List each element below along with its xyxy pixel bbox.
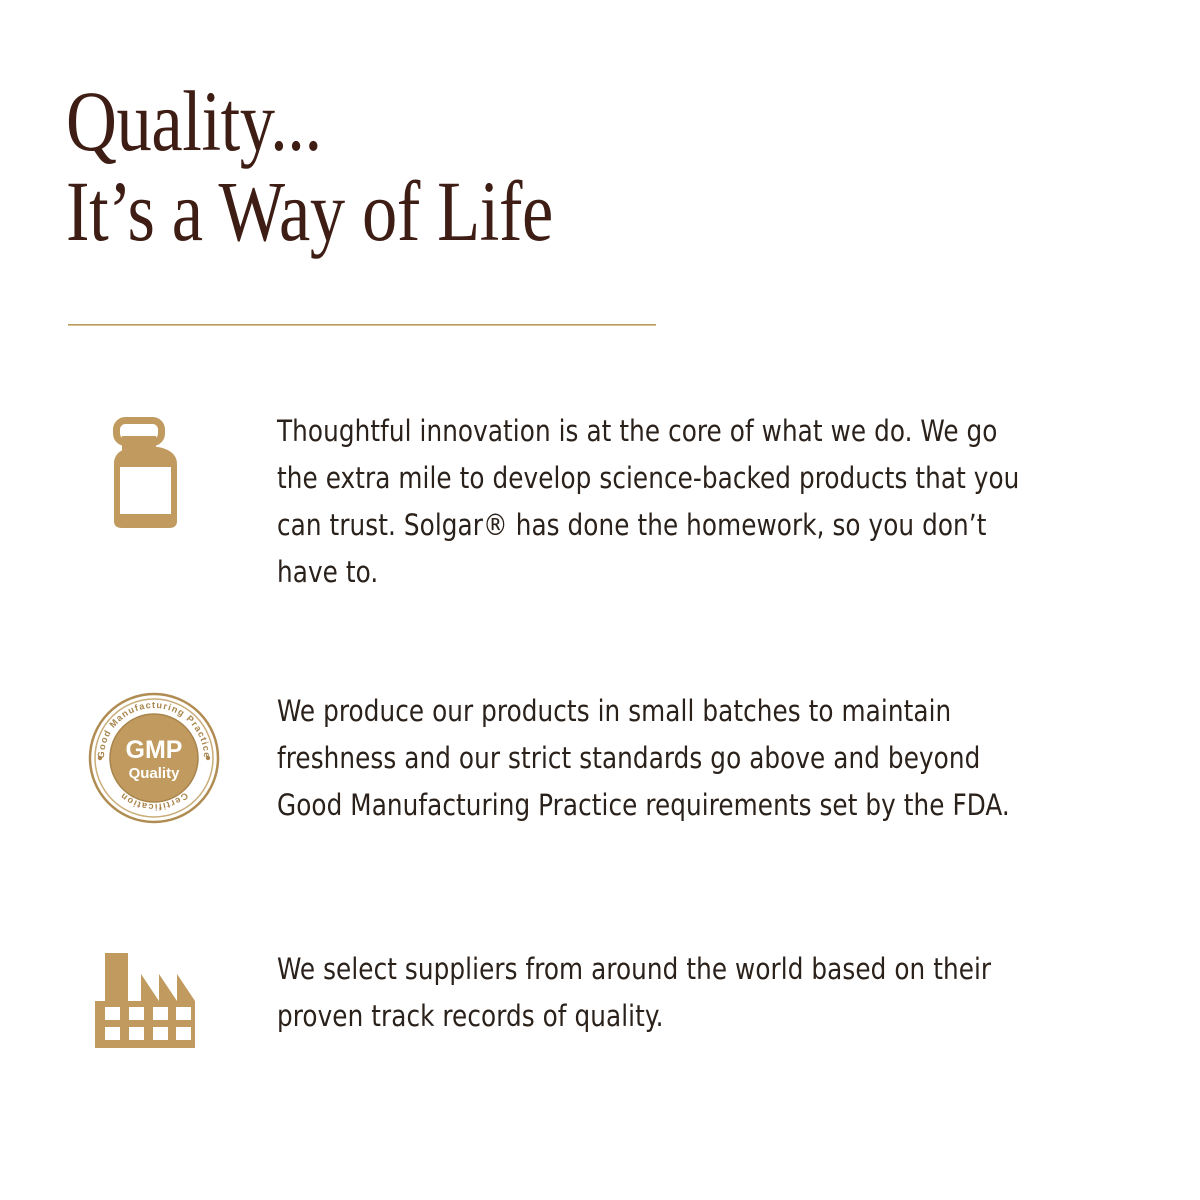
feature-text-suppliers: We select suppliers from around the worl… [277, 946, 1040, 1040]
supplement-bottle-icon [84, 408, 224, 548]
feature-text-innovation: Thoughtful innovation is at the core of … [277, 408, 1040, 596]
gmp-center-sublabel: Quality [129, 765, 181, 782]
feature-text-gmp: We produce our products in small batches… [277, 688, 1040, 829]
factory-icon [84, 946, 224, 1086]
gmp-center-label: GMP [126, 736, 183, 764]
headline-line-2: It’s a Way of Life [66, 166, 804, 256]
headline-line-1: Quality... [66, 76, 804, 166]
page-title: Quality... It’s a Way of Life [66, 76, 966, 256]
divider [68, 324, 656, 326]
quality-promo-page: Quality... It’s a Way of Life [0, 0, 1200, 1200]
gmp-quality-seal-icon: Good Manufacturing Practice Certificatio… [84, 688, 224, 828]
